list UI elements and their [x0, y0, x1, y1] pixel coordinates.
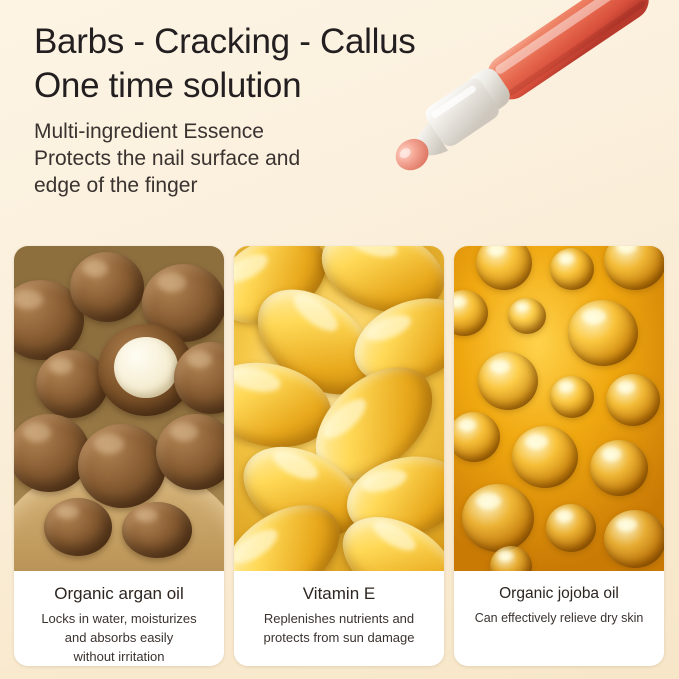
- ingredient-card-vitamin-e: Vitamin E Replenishes nutrients and prot…: [234, 246, 444, 666]
- headline-block: Barbs - Cracking - Callus One time solut…: [34, 20, 554, 199]
- card-caption: Organic argan oil Locks in water, moistu…: [14, 571, 224, 666]
- card-description-line-1: Can effectively relieve dry skin: [462, 609, 656, 628]
- card-description-line-1: Replenishes nutrients and: [242, 609, 436, 628]
- headline-line-1: Barbs - Cracking - Callus: [34, 20, 554, 64]
- ingredient-card-list: Organic argan oil Locks in water, moistu…: [14, 246, 665, 666]
- subhead-line-2: Protects the nail surface and: [34, 145, 554, 172]
- product-poster: Barbs - Cracking - Callus One time solut…: [0, 0, 679, 679]
- vitamin-e-softgel-capsules-photo: [234, 246, 444, 571]
- card-description-line-2: protects from sun damage: [242, 628, 436, 647]
- card-description-line-2: and absorbs easily: [22, 628, 216, 647]
- subhead-block: Multi-ingredient Essence Protects the na…: [34, 118, 554, 199]
- subhead-line-3: edge of the finger: [34, 172, 554, 199]
- card-title: Organic jojoba oil: [462, 583, 656, 605]
- card-description: Replenishes nutrients and protects from …: [242, 609, 436, 647]
- subhead-line-1: Multi-ingredient Essence: [34, 118, 554, 145]
- jojoba-oil-bubbles-photo: [454, 246, 664, 571]
- headline-line-2: One time solution: [34, 64, 554, 108]
- card-caption: Organic jojoba oil Can effectively relie…: [454, 571, 664, 666]
- card-description-line-3: without irritation: [22, 647, 216, 666]
- card-caption: Vitamin E Replenishes nutrients and prot…: [234, 571, 444, 666]
- card-title: Organic argan oil: [22, 583, 216, 605]
- card-title: Vitamin E: [242, 583, 436, 605]
- card-description: Can effectively relieve dry skin: [462, 609, 656, 628]
- ingredient-card-jojoba-oil: Organic jojoba oil Can effectively relie…: [454, 246, 664, 666]
- ingredient-card-argan-oil: Organic argan oil Locks in water, moistu…: [14, 246, 224, 666]
- macadamia-nuts-photo: [14, 246, 224, 571]
- card-description: Locks in water, moisturizes and absorbs …: [22, 609, 216, 666]
- card-description-line-1: Locks in water, moisturizes: [22, 609, 216, 628]
